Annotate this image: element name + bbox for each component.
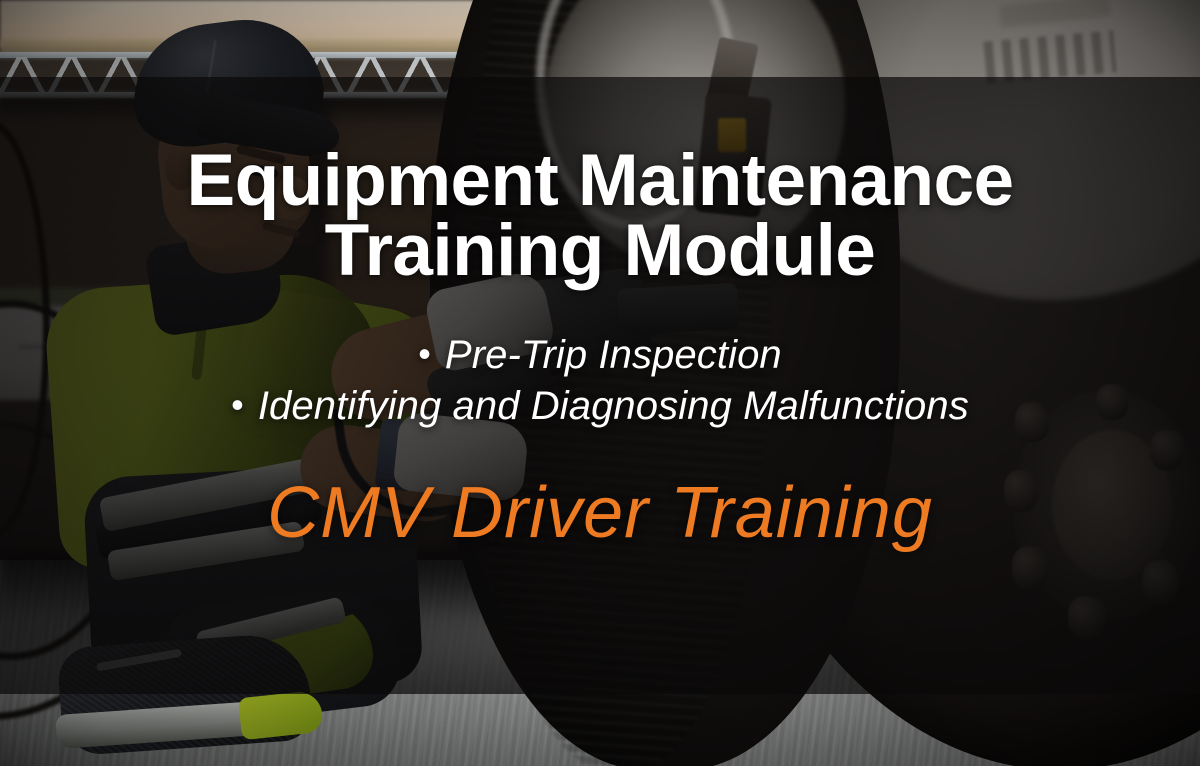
title-line-1: Equipment Maintenance (186, 146, 1013, 216)
list-item: Pre-Trip Inspection (231, 330, 969, 381)
training-slide: Equipment Maintenance Training Module Pr… (0, 0, 1200, 766)
course-subtitle: CMV Driver Training (267, 477, 933, 549)
topic-bullet-list: Pre-Trip Inspection Identifying and Diag… (231, 330, 969, 432)
slide-content: Equipment Maintenance Training Module Pr… (0, 0, 1200, 766)
title-line-2: Training Module (186, 216, 1013, 286)
page-title: Equipment Maintenance Training Module (186, 146, 1013, 286)
list-item: Identifying and Diagnosing Malfunctions (231, 381, 969, 432)
